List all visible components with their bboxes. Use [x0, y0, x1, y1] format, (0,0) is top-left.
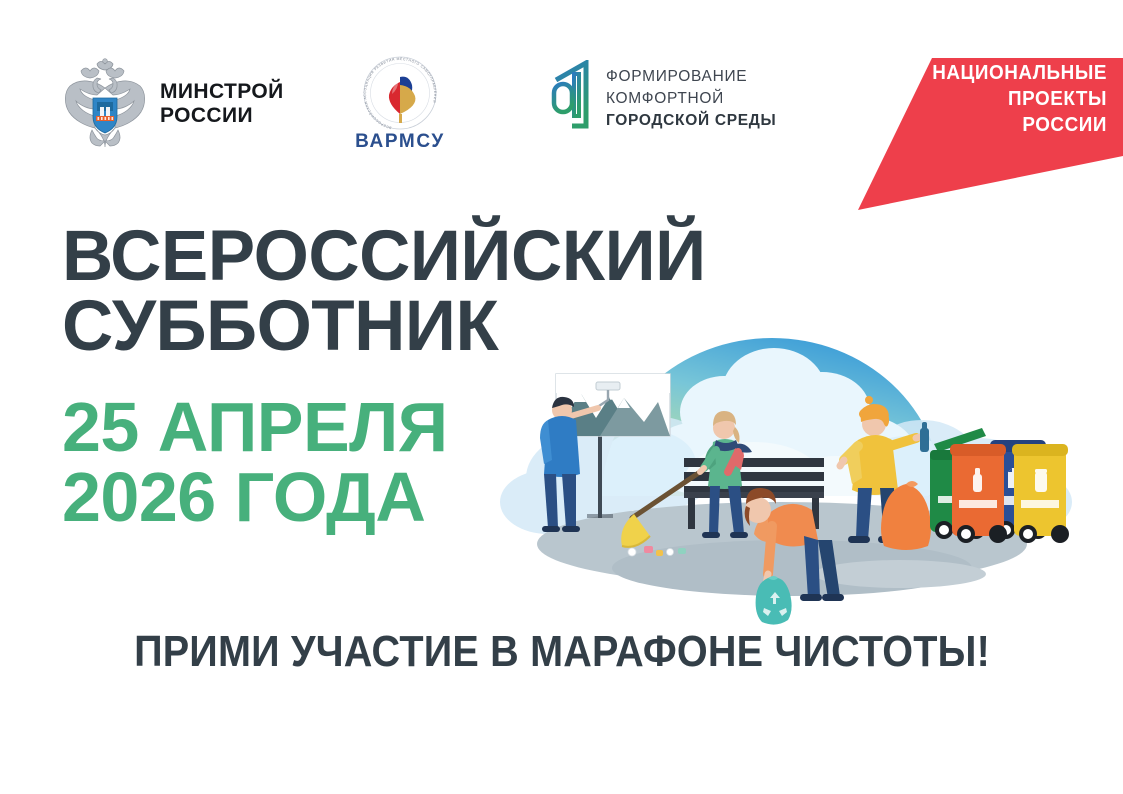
logo-fkgs-label: ФОРМИРОВАНИЕ КОМФОРТНОЙ ГОРОДСКОЙ СРЕДЫ [606, 66, 776, 132]
natproj-line2: ПРОЕКТЫ [932, 86, 1107, 112]
logo-fkgs-line3: ГОРОДСКОЙ СРЕДЫ [606, 112, 776, 129]
logo-fkgs-line2: КОМФОРТНОЙ [606, 90, 724, 107]
natproj-label: НАЦИОНАЛЬНЫЕ ПРОЕКТЫ РОССИИ [932, 60, 1107, 139]
logo-fkgs-line1: ФОРМИРОВАНИЕ [606, 68, 747, 85]
logo-minstroy-line2: РОССИИ [160, 104, 253, 127]
poster-canvas: МИНСТРОЙ РОССИИ ВСЕРОССИЙСКАЯ АССОЦИАЦИЯ… [0, 0, 1123, 794]
natproj-line3: РОССИИ [932, 112, 1107, 138]
logo-minstroy-rossii: МИНСТРОЙ РОССИИ [62, 58, 284, 150]
call-to-action-tagline: ПРИМИ УЧАСТИЕ В МАРАФОНЕ ЧИСТОТЫ! [86, 627, 1037, 677]
logo-row: МИНСТРОЙ РОССИИ ВСЕРОССИЙСКАЯ АССОЦИАЦИЯ… [0, 0, 1123, 200]
headline-line2: СУББОТНИК [62, 292, 706, 362]
russian-double-headed-eagle-emblem-icon [62, 58, 148, 150]
recycle-bins-row-right [944, 436, 1104, 596]
bin-plastic [950, 444, 1007, 543]
house-keyhole-mark-icon [546, 60, 594, 138]
bin-metal [1012, 444, 1069, 543]
natproj-line1: НАЦИОНАЛЬНЫЕ [932, 60, 1107, 86]
logo-varmsu-label: ВАРМСУ [355, 131, 445, 153]
logo-minstroy-line1: МИНСТРОЙ [160, 80, 284, 103]
page-title: ВСЕРОССИЙСКИЙ СУББОТНИК [62, 222, 706, 363]
logo-varmsu: ВСЕРОССИЙСКАЯ АССОЦИАЦИЯ РАЗВИТИЯ МЕСТНО… [352, 52, 448, 153]
date-line1: 25 АПРЕЛЯ [62, 392, 448, 462]
headline-line1: ВСЕРОССИЙСКИЙ [62, 222, 706, 292]
varmsu-three-leaf-mark-icon: ВСЕРОССИЙСКАЯ АССОЦИАЦИЯ РАЗВИТИЯ МЕСТНО… [352, 52, 448, 134]
logo-minstroy-label: МИНСТРОЙ РОССИИ [160, 80, 284, 129]
tagline-text: ПРИМИ УЧАСТИЕ В МАРАФОНЕ ЧИСТОТЫ! [134, 627, 990, 677]
logo-fkgs: ФОРМИРОВАНИЕ КОМФОРТНОЙ ГОРОДСКОЙ СРЕДЫ [546, 60, 776, 138]
event-date: 25 АПРЕЛЯ 2026 ГОДА [62, 392, 448, 532]
logo-natsionalnye-proekty-rossii: НАЦИОНАЛЬНЫЕ ПРОЕКТЫ РОССИИ [840, 38, 1123, 210]
date-line2: 2026 ГОДА [62, 462, 448, 532]
